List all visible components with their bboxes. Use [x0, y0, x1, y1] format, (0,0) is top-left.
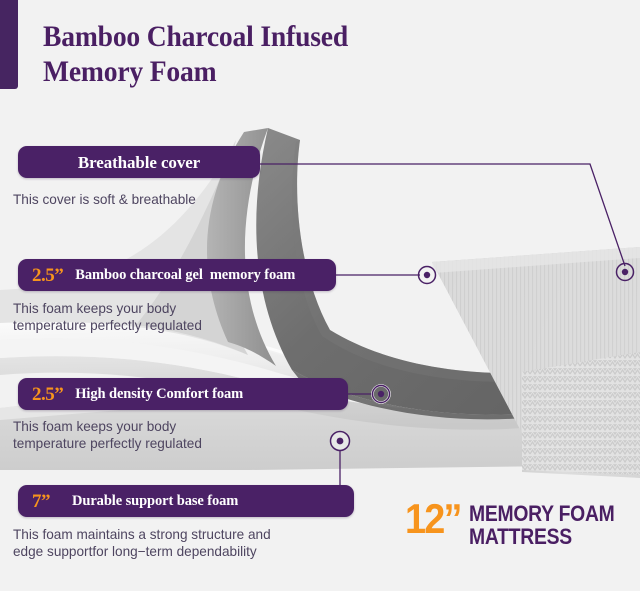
total-height-callout: 12” MEMORY FOAM MATTRESS: [405, 500, 634, 549]
callout-dot-bamboo-charcoal: [419, 267, 436, 284]
callout-size-durable-base: 7”: [32, 492, 50, 511]
total-height-label: MEMORY FOAM MATTRESS: [469, 502, 615, 549]
leader-lines: [258, 164, 625, 492]
mattress-side-panel-lower: [518, 350, 640, 485]
callout-chip-high-density[interactable]: 2.5” High density Comfort foam: [18, 378, 348, 410]
page-title: Bamboo Charcoal Infused Memory Foam: [43, 19, 475, 90]
callout-chip-breathable-cover[interactable]: Breathable cover: [18, 146, 260, 178]
callout-dot-breathable-cover: [617, 264, 634, 281]
callout-dot-high-density: [373, 386, 390, 403]
callout-description-high-density: This foam keeps your body temperature pe…: [13, 419, 313, 453]
callout-size-bamboo-charcoal: 2.5”: [32, 266, 63, 285]
callout-label-high-density: High density Comfort foam: [75, 387, 243, 402]
callout-size-high-density: 2.5”: [32, 385, 63, 404]
callout-dots: [331, 264, 634, 451]
header-accent-bar: [0, 0, 18, 89]
callout-description-bamboo-charcoal: This foam keeps your body temperature pe…: [13, 301, 313, 335]
infographic-poster: Bamboo Charcoal Infused Memory Foam: [0, 0, 640, 591]
callout-chip-durable-base[interactable]: 7” Durable support base foam: [18, 485, 354, 517]
callout-dot-durable-base: [331, 432, 350, 451]
callout-description-breathable-cover: This cover is soft & breathable: [13, 192, 313, 209]
total-height-number: 12”: [405, 500, 461, 539]
callout-label-breathable-cover: Breathable cover: [78, 154, 200, 171]
callout-label-bamboo-charcoal: Bamboo charcoal gel memory foam: [75, 268, 295, 283]
mattress-side-panel-upper: [430, 240, 640, 440]
leader-line-breathable-cover: [258, 164, 625, 266]
callout-chip-bamboo-charcoal[interactable]: 2.5” Bamboo charcoal gel memory foam: [18, 259, 336, 291]
callout-description-durable-base: This foam maintains a strong structure a…: [13, 527, 358, 561]
callout-label-durable-base: Durable support base foam: [72, 494, 238, 509]
